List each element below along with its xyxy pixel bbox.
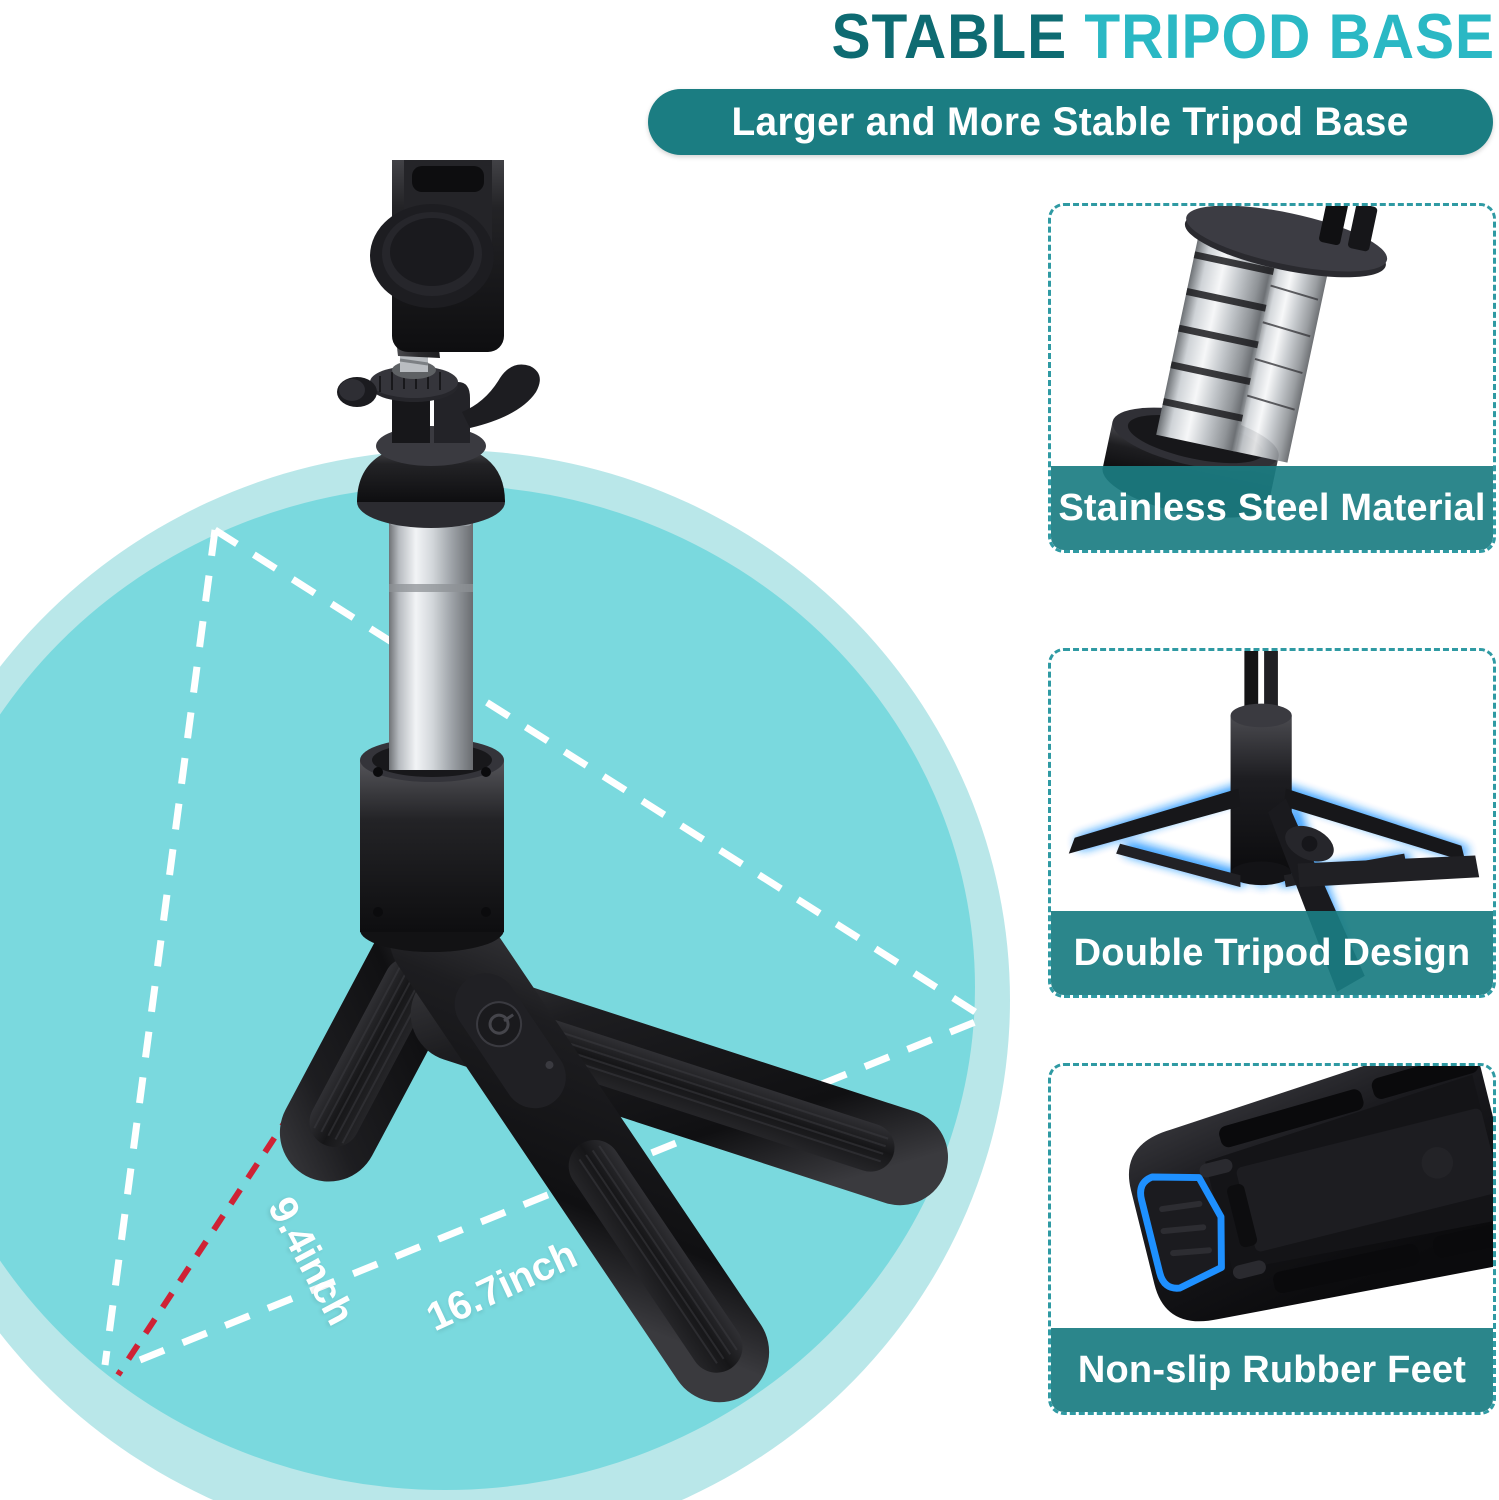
subtitle-text: Larger and More Stable Tripod Base [732, 100, 1409, 145]
tripod-center-hub [360, 738, 504, 952]
feature-panel-double-tripod[interactable]: Double Tripod Design [1048, 648, 1496, 998]
hero-product-image: 9.4inch 16.7inch [0, 160, 1030, 1500]
tripod-illustration [0, 160, 1030, 1500]
panel-caption-text: Stainless Steel Material [1058, 487, 1485, 530]
page-title-part-1: STABLE [832, 2, 1068, 72]
panel-caption-rubber-feet: Non-slip Rubber Feet [1051, 1328, 1493, 1412]
panel-caption-double-tripod: Double Tripod Design [1051, 911, 1493, 995]
stainless-steel-pole [389, 500, 473, 770]
panel-caption-stainless-steel: Stainless Steel Material [1051, 466, 1493, 550]
panel-caption-text: Non-slip Rubber Feet [1078, 1349, 1466, 1392]
infographic-page: STABLE TRIPOD BASE Larger and More Stabl… [0, 0, 1499, 1500]
page-title: STABLE TRIPOD BASE [625, 2, 1495, 74]
phone-clamp-plate [370, 160, 504, 352]
ball-head-mount [337, 365, 540, 529]
feature-panel-rubber-feet[interactable]: Non-slip Rubber Feet [1048, 1063, 1496, 1415]
subtitle-banner: Larger and More Stable Tripod Base [648, 89, 1493, 155]
panel-caption-text: Double Tripod Design [1074, 932, 1471, 975]
page-title-part-2: TRIPOD BASE [1084, 2, 1495, 72]
feature-panel-stainless-steel[interactable]: Stainless Steel Material [1048, 203, 1496, 553]
